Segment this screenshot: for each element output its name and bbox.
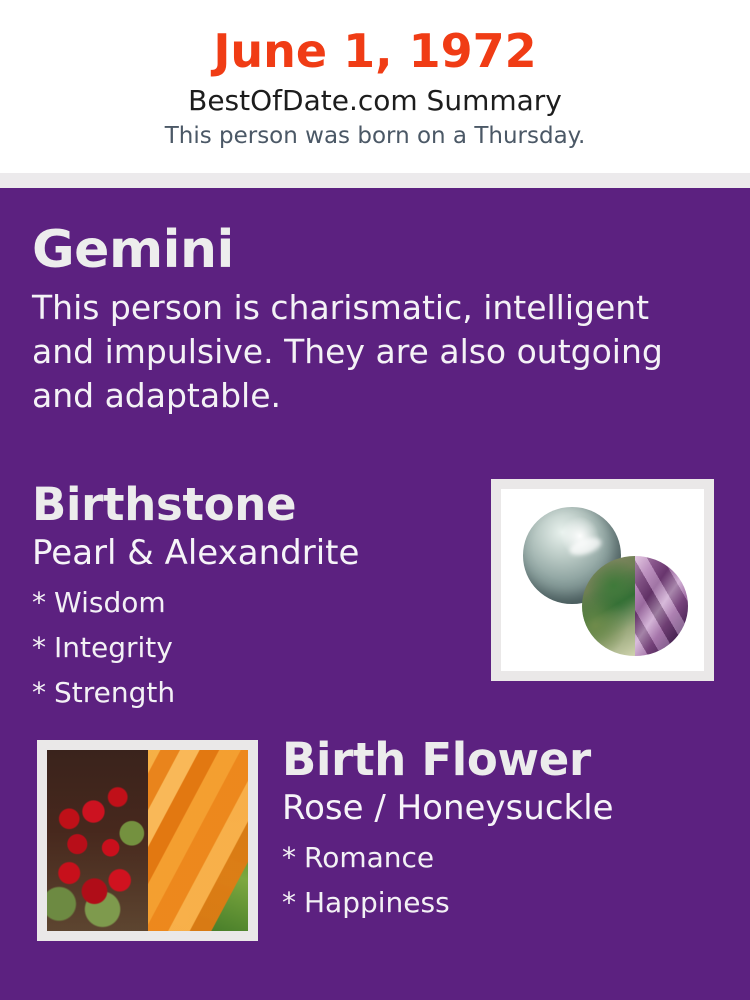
birthstone-photo xyxy=(501,489,704,671)
list-item: *Strength xyxy=(32,670,462,715)
birthstone-image-frame xyxy=(491,479,714,681)
birth-flower-title: Birth Flower xyxy=(282,733,722,787)
list-item: *Wisdom xyxy=(32,580,462,625)
birth-flower-name: Rose / Honeysuckle xyxy=(282,787,722,829)
summary-card: June 1, 1972 BestOfDate.com Summary This… xyxy=(0,0,750,1000)
birthstone-trait-label: Integrity xyxy=(54,631,173,664)
alexandrite-gem-graphic xyxy=(582,556,688,656)
zodiac-section: Gemini This person is charismatic, intel… xyxy=(32,220,712,418)
zodiac-sign-title: Gemini xyxy=(32,220,712,280)
birthstone-traits-list: *Wisdom *Integrity *Strength xyxy=(32,574,462,715)
details-panel: Gemini This person is charismatic, intel… xyxy=(0,188,750,1000)
header-divider xyxy=(0,173,750,188)
asterisk-icon: * xyxy=(32,586,54,619)
asterisk-icon: * xyxy=(282,886,304,919)
alexandrite-rough-half xyxy=(582,556,635,656)
birthstone-title: Birthstone xyxy=(32,478,462,532)
birth-flower-traits-list: *Romance *Happiness xyxy=(282,829,722,925)
asterisk-icon: * xyxy=(32,676,54,709)
list-item: *Romance xyxy=(282,835,722,880)
birthstone-trait-label: Strength xyxy=(54,676,175,709)
birth-flower-trait-label: Happiness xyxy=(304,886,450,919)
birth-flower-image-frame xyxy=(37,740,258,941)
birthstone-name: Pearl & Alexandrite xyxy=(32,532,462,574)
birthstone-section: Birthstone Pearl & Alexandrite *Wisdom *… xyxy=(32,478,462,715)
honeysuckle-graphic xyxy=(148,750,249,931)
list-item: *Happiness xyxy=(282,880,722,925)
zodiac-description: This person is charismatic, intelligent … xyxy=(32,280,692,418)
birth-flower-trait-label: Romance xyxy=(304,841,434,874)
list-item: *Integrity xyxy=(32,625,462,670)
alexandrite-facet-overlay xyxy=(635,556,688,656)
site-name-subtitle: BestOfDate.com Summary xyxy=(0,78,750,118)
card-header: June 1, 1972 BestOfDate.com Summary This… xyxy=(0,0,750,173)
birth-date-title: June 1, 1972 xyxy=(0,0,750,78)
birthstone-trait-label: Wisdom xyxy=(54,586,166,619)
asterisk-icon: * xyxy=(282,841,304,874)
birth-flower-section: Birth Flower Rose / Honeysuckle *Romance… xyxy=(282,733,722,925)
red-roses-graphic xyxy=(47,750,148,931)
asterisk-icon: * xyxy=(32,631,54,664)
weekday-note: This person was born on a Thursday. xyxy=(0,118,750,151)
birth-flower-photo xyxy=(47,750,248,931)
